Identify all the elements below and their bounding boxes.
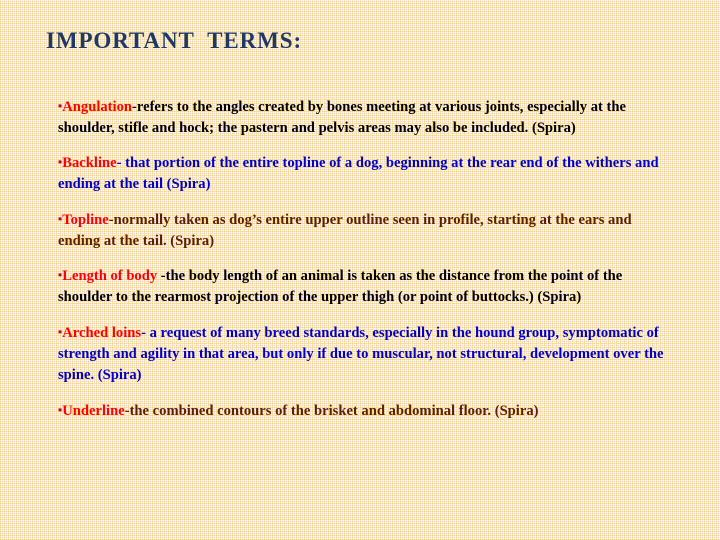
term-definition: -refers to the angles created by bones m… xyxy=(58,99,626,136)
term-definition: -normally taken as dog’s entire upper ou… xyxy=(58,212,632,249)
terms-list: ▪Angulation-refers to the angles created… xyxy=(58,82,674,422)
term-name: Underline xyxy=(62,403,124,419)
term-name: Topline xyxy=(62,212,109,228)
page-title: IMPORTANT TERMS: xyxy=(46,28,302,53)
term-item: ▪Arched loins- a request of many breed s… xyxy=(58,323,674,386)
term-name: Angulation xyxy=(62,99,132,115)
term-name: Length of body xyxy=(62,268,161,284)
term-item: ▪Underline-the combined contours of the … xyxy=(58,401,674,422)
term-definition: - that portion of the entire topline of … xyxy=(58,155,659,192)
term-item: ▪Length of body -the body length of an a… xyxy=(58,266,674,308)
term-name: Arched loins xyxy=(62,325,141,341)
slide-canvas: IMPORTANT TERMS: ▪Angulation-refers to t… xyxy=(0,0,720,540)
term-definition: -the combined contours of the brisket an… xyxy=(125,403,539,419)
term-definition: - a request of many breed standards, esp… xyxy=(58,325,664,383)
term-item: ▪Topline-normally taken as dog’s entire … xyxy=(58,210,674,252)
term-item: ▪Backline- that portion of the entire to… xyxy=(58,153,674,195)
term-name: Backline xyxy=(62,155,116,171)
term-item: ▪Angulation-refers to the angles created… xyxy=(58,97,674,139)
